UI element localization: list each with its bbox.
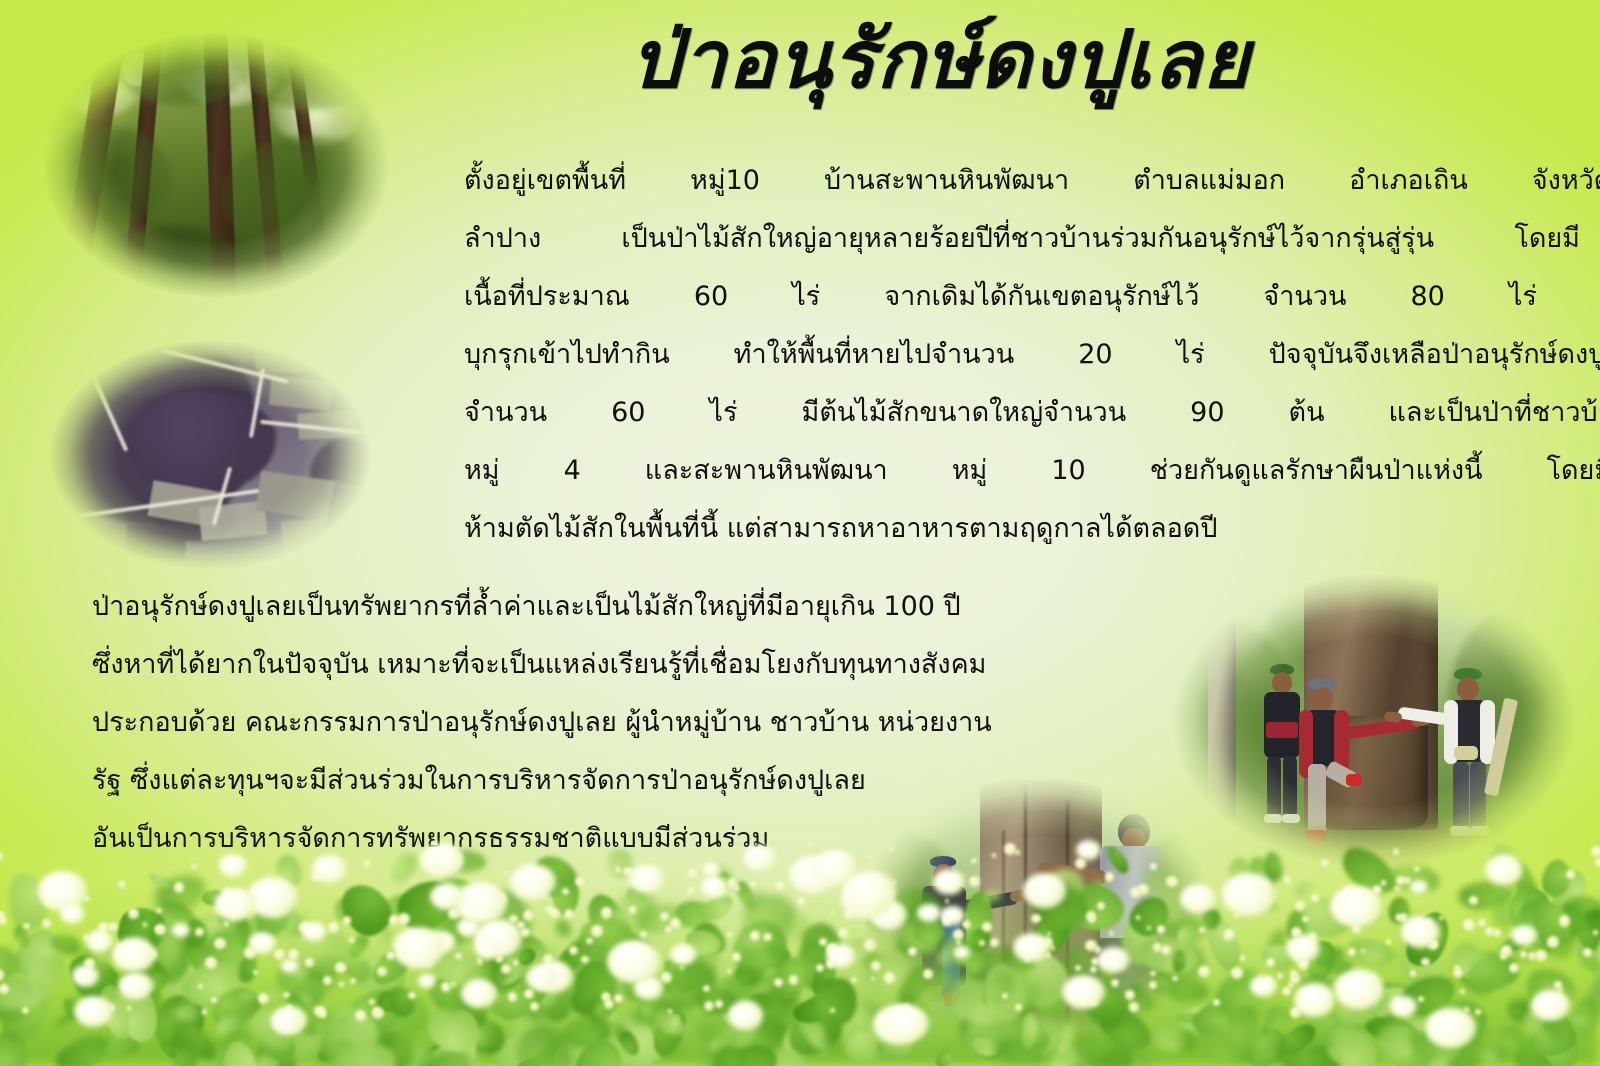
- person-right: [1436, 668, 1506, 838]
- p1-line-2: ลำปางเป็นป่าไม้สักใหญ่อายุหลายร้อยปีที่ช…: [400, 210, 1580, 268]
- p2-line-4: รัฐ ซึ่งแต่ละทุนฯจะมีส่วนร่วมในการบริหาร…: [12, 752, 1102, 810]
- paragraph-value-and-management: ป่าอนุรักษ์ดงปูเลยเป็นทรัพยากรที่ล้ำค่าแ…: [12, 578, 1102, 868]
- p1-line-4: บุกรุกเข้าไปทำกินทำให้พื้นที่หายไปจำนวน2…: [400, 326, 1580, 384]
- paragraph-location-and-area: ตั้งอยู่เขตพื้นที่หมู่10บ้านสะพานหินพัฒน…: [400, 152, 1580, 558]
- p2-line-1: ป่าอนุรักษ์ดงปูเลยเป็นทรัพยากรที่ล้ำค่าแ…: [12, 578, 1102, 636]
- person-center: [1294, 678, 1414, 838]
- photo-forest-canopy: [22, 16, 410, 314]
- photo-aerial-map: [30, 326, 390, 584]
- p2-line-3: ประกอบด้วย คณะกรรมการป่าอนุรักษ์ดงปูเลย …: [12, 694, 1102, 752]
- p2-line-5: อันเป็นการบริหารจัดการทรัพยากรธรรมชาติแบ…: [12, 810, 1102, 868]
- p1-line-5: จำนวน60ไร่มีต้นไม้สักขนาดใหญ่จำนวน90ต้นแ…: [400, 384, 1580, 442]
- p1-line-6: หมู่4และสะพานหินพัฒนาหมู่10ช่วยกันดูแลรั…: [400, 442, 1580, 500]
- poster-canvas: ป่าอนุรักษ์ดงปูเลย: [0, 0, 1600, 1066]
- p2-line-2: ซึ่งหาที่ได้ยากในปัจจุบัน เหมาะที่จะเป็น…: [12, 636, 1102, 694]
- p1-line-3: เนื้อที่ประมาณ60ไร่จากเดิมได้กันเขตอนุรั…: [400, 268, 1580, 326]
- p1-line-1: ตั้งอยู่เขตพื้นที่หมู่10บ้านสะพานหินพัฒน…: [400, 152, 1580, 210]
- p1-line-7: ห้ามตัดไม้สักในพื้นที่นี้ แต่สามารถหาอาห…: [400, 500, 1580, 558]
- page-title: ป่าอนุรักษ์ดงปูเลย: [560, 18, 1320, 102]
